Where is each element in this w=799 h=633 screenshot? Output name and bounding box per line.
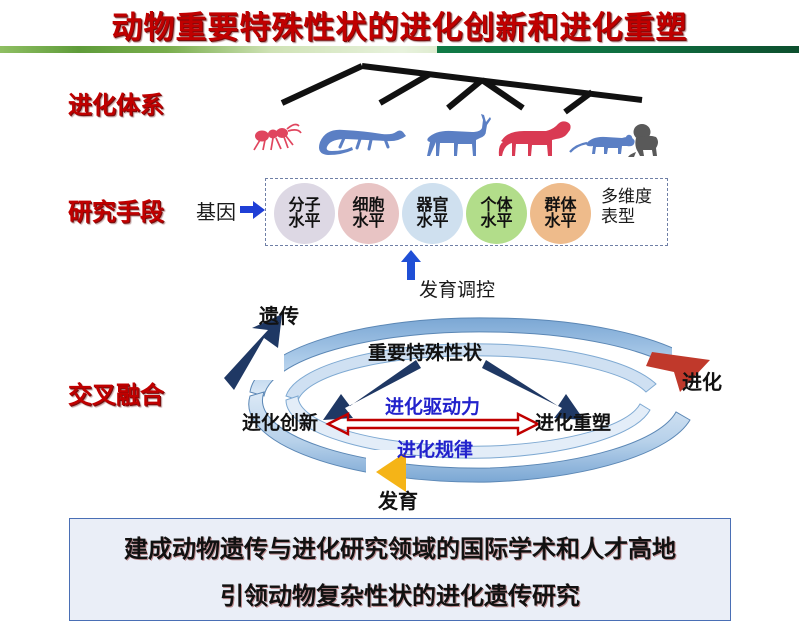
- animal-ant: [254, 125, 301, 150]
- cycle-label-law: 进化规律: [397, 435, 473, 462]
- accent-bar-left: [0, 46, 437, 53]
- animal-deer: [427, 114, 491, 156]
- gene-label: 基因: [196, 196, 236, 225]
- level-label-bottom: 水平: [480, 213, 512, 229]
- row-label-evolution-system: 进化体系: [68, 85, 164, 120]
- cycle-label-innovation: 进化创新: [242, 408, 318, 435]
- cycle-label-heredity: 遗传: [259, 300, 299, 329]
- research-levels-panel: 分子 水平 细胞 水平 器官 水平 个体 水平 群体 水平 多维度 表型: [265, 178, 668, 246]
- level-circle-cellular[interactable]: 细胞 水平: [338, 183, 399, 244]
- cycle-label-driver: 进化驱动力: [385, 392, 480, 419]
- slide-canvas: 动物重要特殊性状的进化创新和进化重塑 进化体系 研究手段 交叉融合: [0, 0, 799, 633]
- level-circle-molecular[interactable]: 分子 水平: [274, 183, 335, 244]
- level-circle-individual[interactable]: 个体 水平: [466, 183, 527, 244]
- cycle-label-remodeling: 进化重塑: [535, 408, 611, 435]
- gene-arrow-icon: [240, 200, 266, 224]
- cycle-label-trait: 重要特殊性状: [368, 338, 482, 365]
- animal-silhouettes: [240, 112, 660, 162]
- statement-line-1: 建成动物遗传与进化研究领域的国际学术和人才高地: [124, 529, 676, 564]
- level-circle-organ[interactable]: 器官 水平: [402, 183, 463, 244]
- statement-box: 建成动物遗传与进化研究领域的国际学术和人才高地 引领动物复杂性状的进化遗传研究: [69, 518, 731, 621]
- animal-salamander: [319, 130, 406, 155]
- level-label-bottom: 水平: [416, 213, 448, 229]
- cycle-label-evolution: 进化: [682, 366, 722, 395]
- multidim-line-2: 表型: [601, 207, 652, 227]
- level-label-bottom: 水平: [352, 213, 384, 229]
- multidim-line-1: 多维度: [601, 187, 652, 207]
- evolution-cycle-diagram: 遗传 进化 发育 重要特殊性状 进化创新 进化重塑 进化驱动力 进化规律: [190, 300, 765, 515]
- statement-line-2: 引领动物复杂性状的进化遗传研究: [220, 576, 580, 611]
- cycle-label-development: 发育: [378, 485, 418, 514]
- row-label-research-method: 研究手段: [68, 192, 164, 227]
- multidimensional-phenotype-label: 多维度 表型: [601, 187, 652, 227]
- accent-bar: [0, 46, 799, 53]
- animal-mouse: [570, 135, 635, 154]
- level-circle-population[interactable]: 群体 水平: [530, 183, 591, 244]
- development-regulation-label: 发育调控: [419, 275, 495, 302]
- level-label-bottom: 水平: [544, 213, 576, 229]
- row-label-cross-fusion: 交叉融合: [68, 375, 164, 410]
- animal-dog: [499, 121, 571, 156]
- level-circles-row: 分子 水平 细胞 水平 器官 水平 个体 水平 群体 水平: [274, 182, 591, 244]
- page-title: 动物重要特殊性状的进化创新和进化重塑: [0, 2, 799, 47]
- level-label-bottom: 水平: [288, 213, 320, 229]
- accent-bar-right: [437, 46, 799, 53]
